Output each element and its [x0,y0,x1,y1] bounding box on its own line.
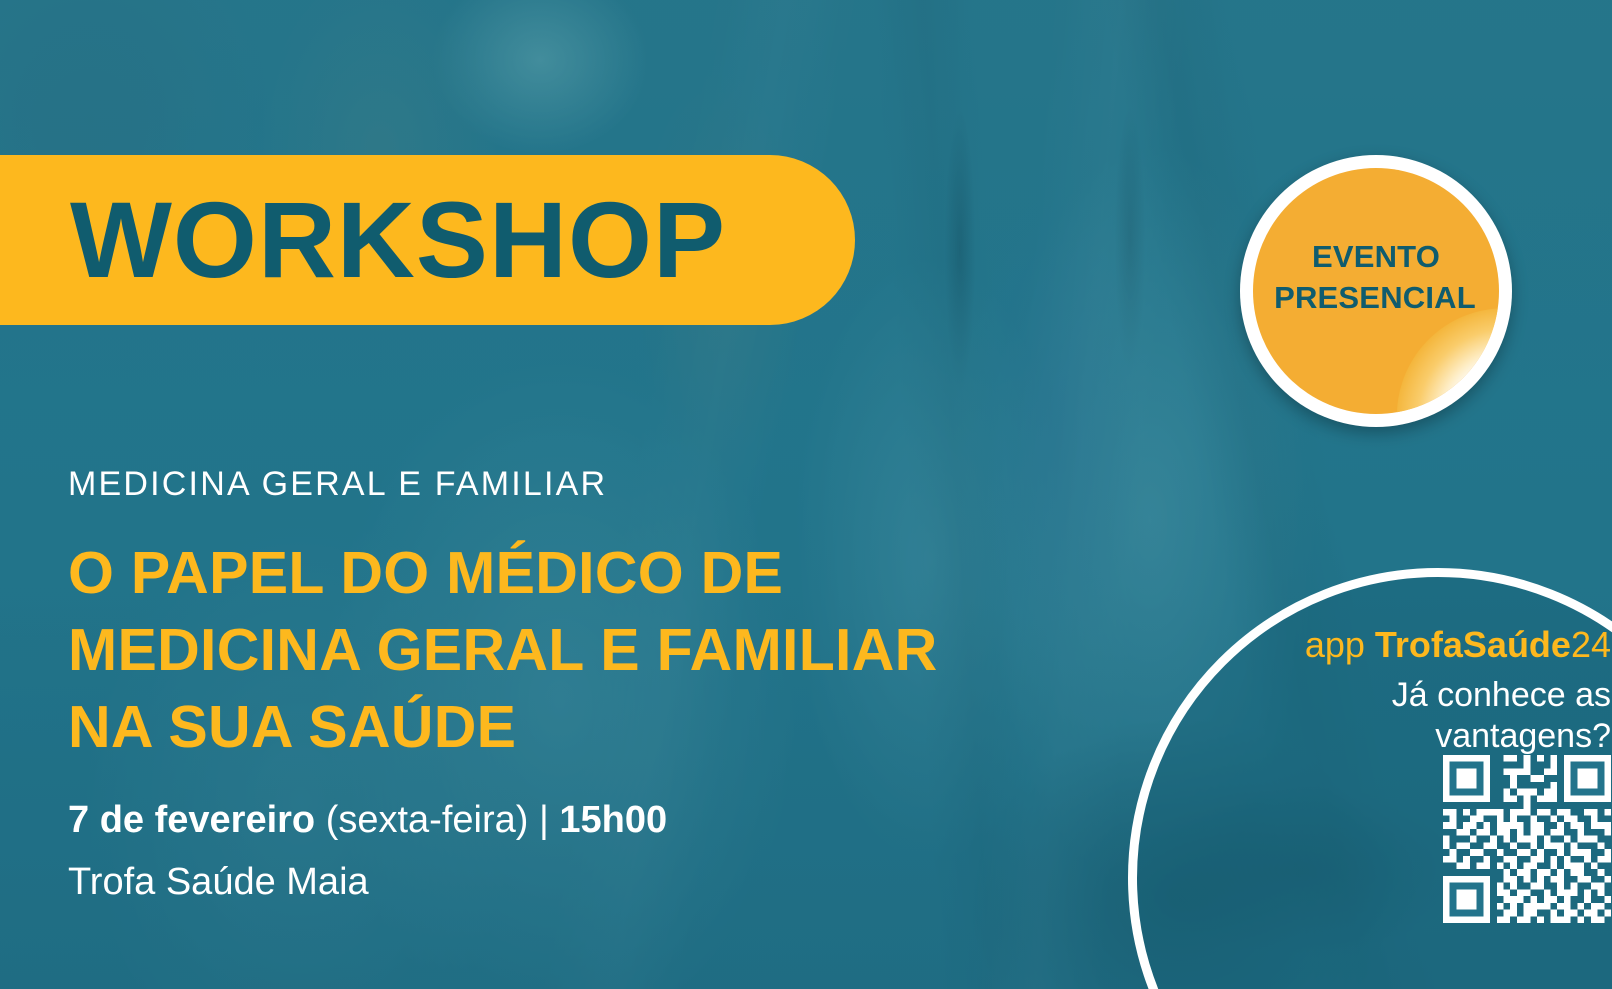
app-name-suffix: 24 [1571,624,1611,665]
app-tagline-line-2: vantagens? [1137,716,1611,757]
workshop-label: WORKSHOP [70,186,726,294]
event-time: 15h00 [559,799,667,841]
badge-line-2: PRESENCIAL [1238,278,1512,319]
event-title-line-3: NA SUA SAÚDE [68,689,1068,766]
event-date: 7 de fevereiro [68,799,315,841]
event-poster: WORKSHOP MEDICINA GERAL E FAMILIAR O PAP… [0,0,1612,989]
app-name-prefix: app [1305,624,1375,665]
app-promo-circle: app TrofaSaúde24 Já conhece as vantagens… [1128,568,1612,989]
workshop-banner: WORKSHOP [0,155,855,325]
app-name: app TrofaSaúde24 [1137,625,1611,665]
badge-line-1: EVENTO [1240,237,1512,278]
event-datetime: 7 de fevereiro (sexta-feira) | 15h00 [68,799,1068,843]
event-title-line-1: O PAPEL DO MÉDICO DE [68,535,1068,612]
event-title-line-2: MEDICINA GERAL E FAMILIAR [68,612,1068,689]
event-venue: Trofa Saúde Maia [68,861,1068,905]
event-weekday-separator: (sexta-feira) | [315,799,559,841]
specialty-kicker: MEDICINA GERAL E FAMILIAR [68,466,1068,503]
app-tagline-line-1: Já conhece as [1137,675,1611,716]
evento-presencial-badge: EVENTO PRESENCIAL [1240,155,1512,427]
event-title: O PAPEL DO MÉDICO DE MEDICINA GERAL E FA… [68,535,1068,765]
main-content: MEDICINA GERAL E FAMILIAR O PAPEL DO MÉD… [68,466,1068,905]
qr-code-icon[interactable] [1443,755,1611,923]
badge-text: EVENTO PRESENCIAL [1240,237,1512,319]
app-tagline: Já conhece as vantagens? [1137,675,1611,758]
app-name-brand: TrofaSaúde [1375,624,1571,665]
